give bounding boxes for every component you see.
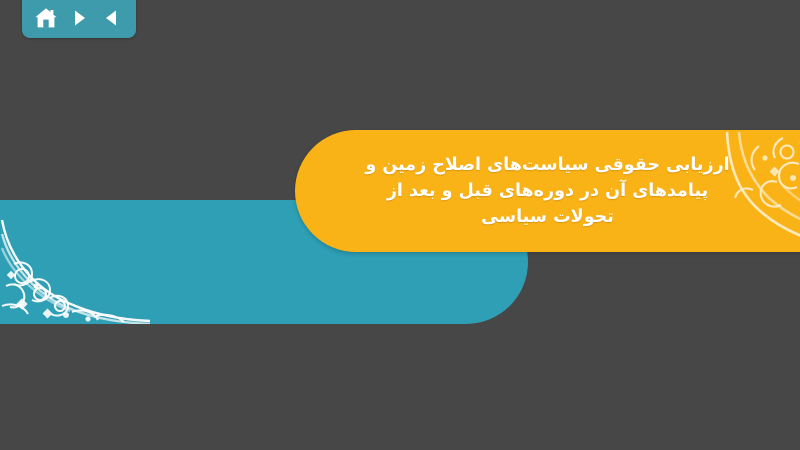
previous-slide-button[interactable] <box>99 5 125 31</box>
slide-canvas: ارزیابی حقوقی سیاست‌های اصلاح زمین و پیا… <box>0 0 800 450</box>
home-button[interactable] <box>33 5 59 31</box>
arabesque-corner-ornament-yellow <box>635 130 800 252</box>
arabesque-corner-ornament-teal <box>0 214 150 324</box>
home-icon <box>34 7 58 29</box>
next-slide-button[interactable] <box>66 5 92 31</box>
triangle-left-icon <box>102 8 122 28</box>
triangle-right-icon <box>69 8 89 28</box>
slide-navigation-bar <box>22 0 136 38</box>
title-banner-panel <box>295 130 800 252</box>
